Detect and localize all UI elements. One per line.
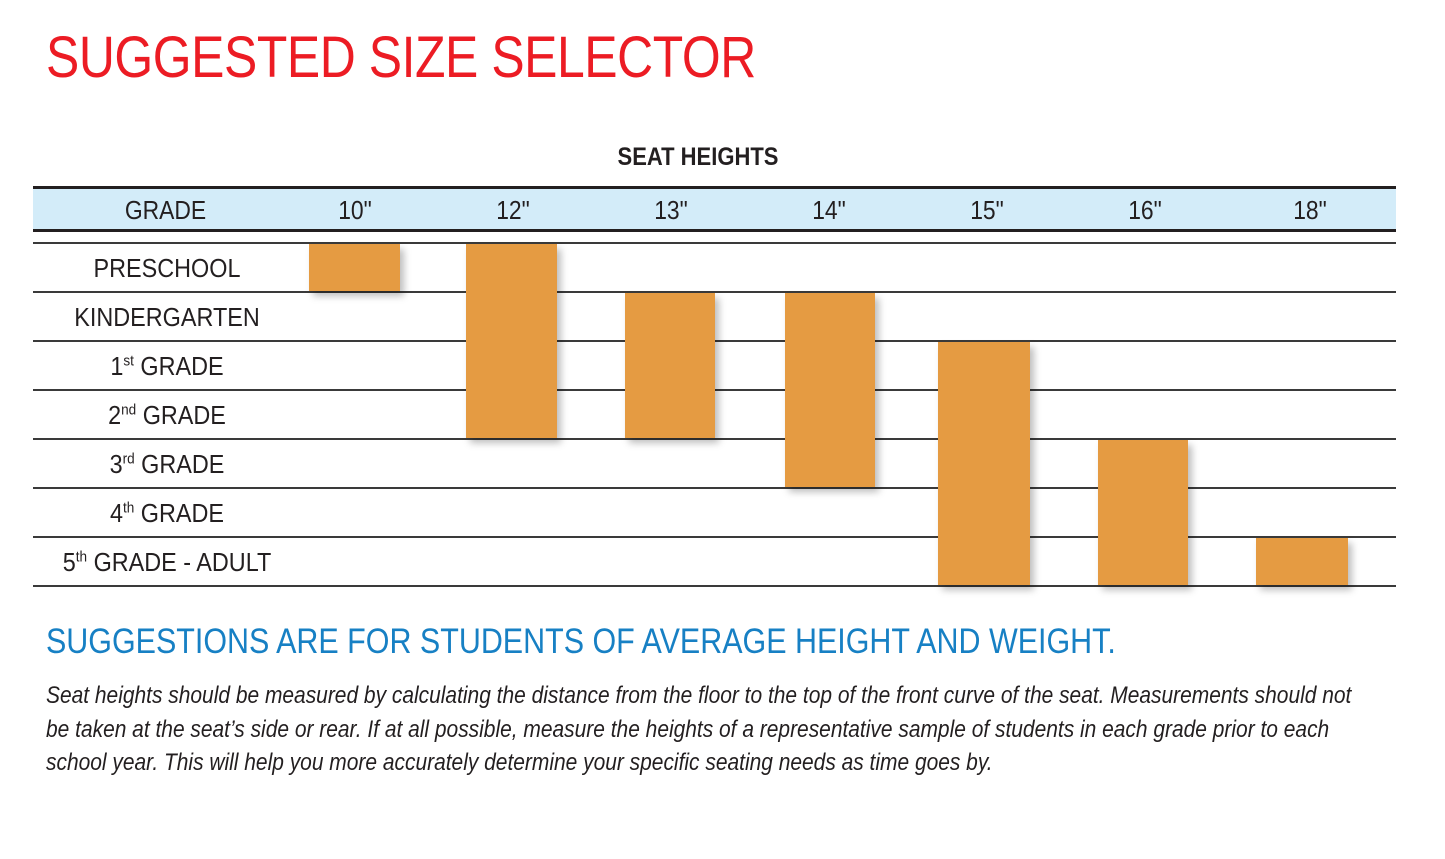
column-header-13in: 13" — [601, 191, 740, 229]
body-paragraph: Seat heights should be measured by calcu… — [46, 679, 1380, 780]
row-label-grade-3: 3rd GRADE — [46, 440, 287, 489]
row-label-grade-5-adult: 5th GRADE - ADULT — [46, 538, 287, 587]
bar-14in — [785, 293, 875, 487]
bar-10in — [309, 244, 400, 291]
column-header-18in: 18" — [1234, 191, 1385, 229]
row-label-grade-1: 1st GRADE — [46, 342, 287, 391]
row-label-kindergarten: KINDERGARTEN — [46, 293, 287, 342]
row-label-grade-4: 4th GRADE — [46, 489, 287, 538]
row-label-preschool: PRESCHOOL — [46, 244, 287, 293]
sub-headline: SUGGESTIONS ARE FOR STUDENTS OF AVERAGE … — [46, 621, 1116, 663]
column-header-15in: 15" — [917, 191, 1056, 229]
column-header-16in: 16" — [1075, 191, 1214, 229]
column-header-10in: 10" — [285, 191, 424, 229]
column-header-grade: GRADE — [49, 191, 282, 229]
bar-15in — [938, 342, 1030, 585]
page-title: SUGGESTED SIZE SELECTOR — [46, 26, 756, 90]
bar-12in — [466, 244, 557, 438]
bar-16in — [1098, 440, 1188, 585]
column-header-12in: 12" — [443, 191, 582, 229]
seat-heights-caption: SEAT HEIGHTS — [84, 143, 1312, 172]
bar-18in — [1256, 538, 1348, 585]
column-header-14in: 14" — [759, 191, 898, 229]
row-label-grade-2: 2nd GRADE — [46, 391, 287, 440]
table-body: PRESCHOOL KINDERGARTEN 1st GRADE 2nd GRA… — [33, 231, 1396, 586]
bar-13in — [625, 293, 715, 438]
